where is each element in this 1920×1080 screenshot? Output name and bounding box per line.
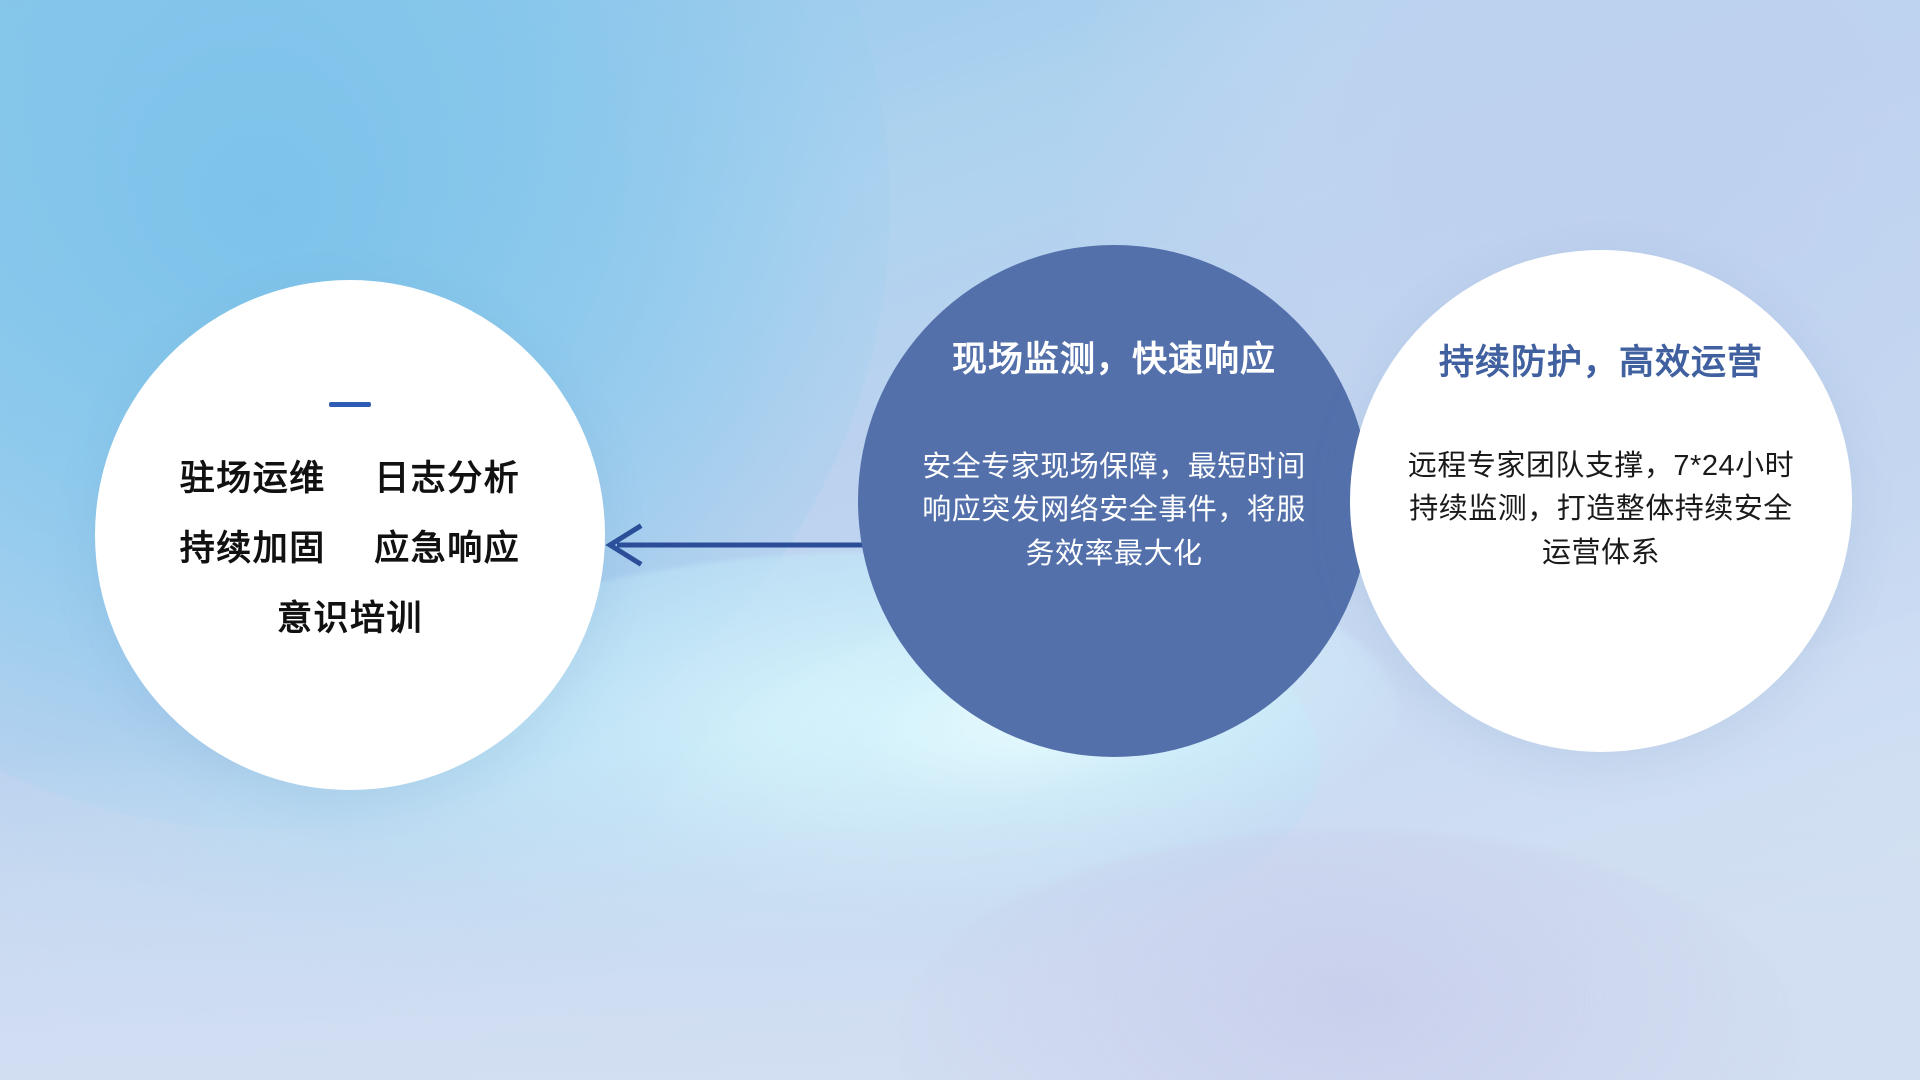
keyword-row-2: 持续加固 应急响应 xyxy=(133,531,567,566)
keyword-label: 驻场运维 xyxy=(180,459,326,498)
keyword-label: 应急响应 xyxy=(374,529,520,568)
card-title: 持续防护，高效运营 xyxy=(1396,344,1806,383)
accent-dash-icon xyxy=(329,402,371,407)
card-continuous-protection-content: 持续防护，高效运营 远程专家团队支撑，7*24小时持续监测，打造整体持续安全运营… xyxy=(1350,344,1852,575)
card-continuous-protection[interactable]: 持续防护，高效运营 远程专家团队支撑，7*24小时持续监测，打造整体持续安全运营… xyxy=(1350,250,1852,752)
card-keywords-content: 驻场运维 日志分析 持续加固 应急响应 意识培训 xyxy=(95,402,605,636)
card-onsite-monitoring[interactable]: 现场监测，快速响应 安全专家现场保障，最短时间响应突发网络安全事件，将服务效率最… xyxy=(858,245,1370,757)
keyword-row-3: 意识培训 xyxy=(133,601,567,636)
keyword-row-1: 驻场运维 日志分析 xyxy=(133,461,567,496)
keyword-label: 日志分析 xyxy=(374,459,520,498)
card-body: 安全专家现场保障，最短时间响应突发网络安全事件，将服务效率最大化 xyxy=(906,446,1322,577)
left-arrow-icon xyxy=(595,510,885,580)
card-title: 现场监测，快速响应 xyxy=(906,341,1322,380)
slide-canvas: 驻场运维 日志分析 持续加固 应急响应 意识培训 现场监测，快速响应 安全专家现… xyxy=(0,0,1920,1080)
card-body: 远程专家团队支撑，7*24小时持续监测，打造整体持续安全运营体系 xyxy=(1396,445,1806,576)
keyword-label: 持续加固 xyxy=(180,529,326,568)
card-keywords[interactable]: 驻场运维 日志分析 持续加固 应急响应 意识培训 xyxy=(95,280,605,790)
card-onsite-monitoring-content: 现场监测，快速响应 安全专家现场保障，最短时间响应突发网络安全事件，将服务效率最… xyxy=(858,341,1370,576)
